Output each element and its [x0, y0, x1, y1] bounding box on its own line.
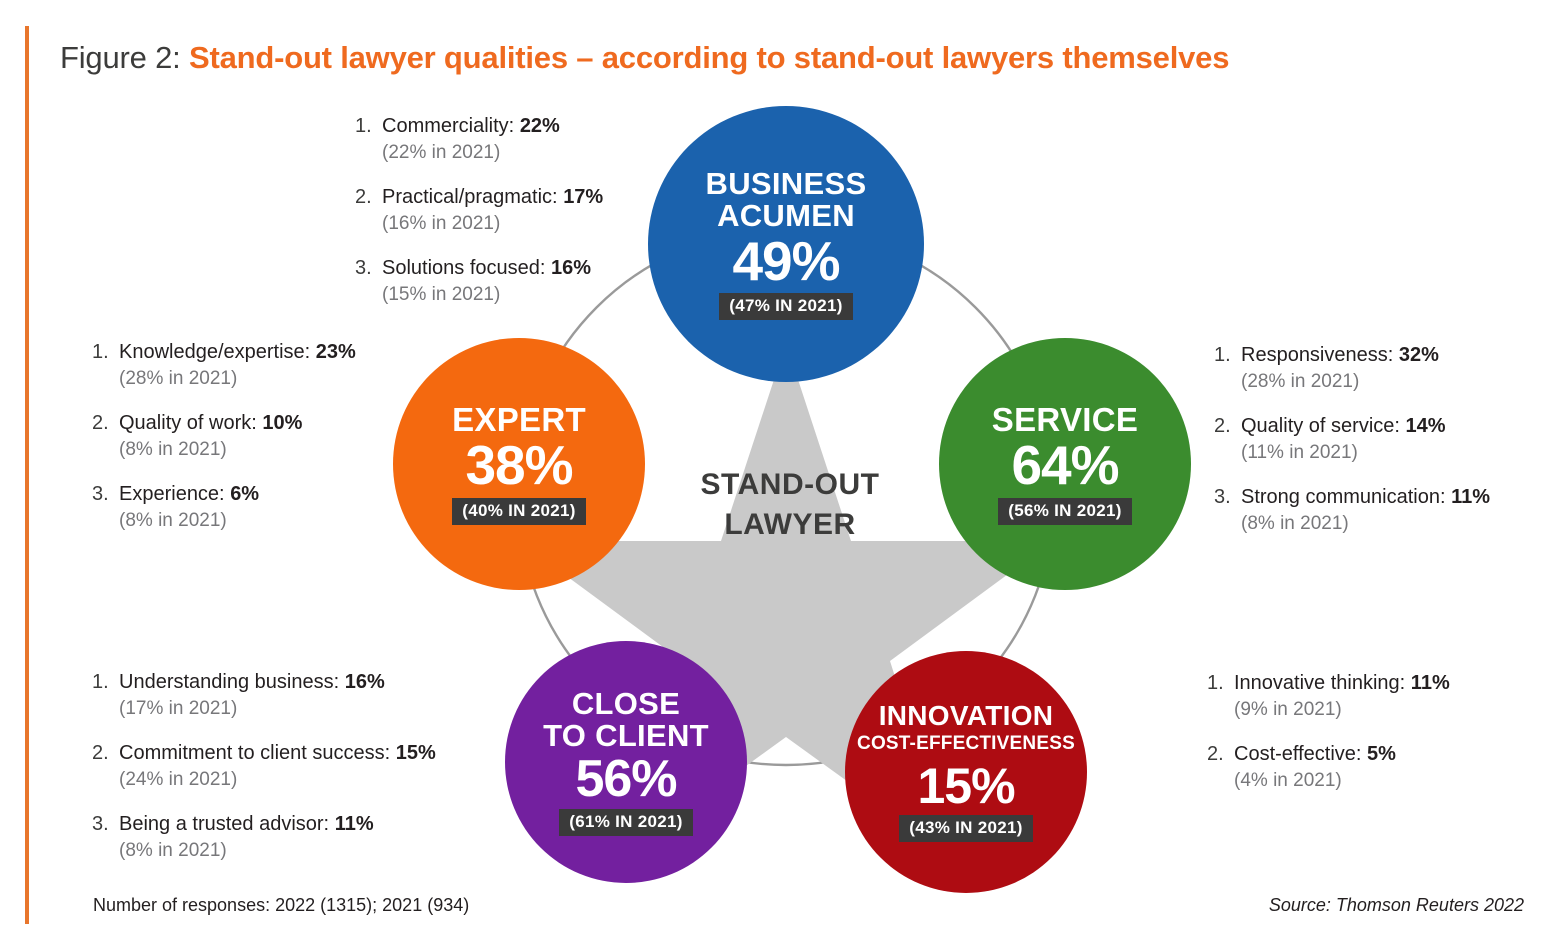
list-expert: 1. Knowledge/expertise: 23% (28% in 2021… — [92, 339, 356, 534]
list-item-number: 1. — [1214, 342, 1241, 395]
list-item-value: 16% — [551, 257, 591, 279]
center-label-line1: STAND-OUT — [620, 465, 960, 505]
list-close-to-client: 1. Understanding business: 16% (17% in 2… — [92, 669, 436, 864]
list-item-label: Innovative thinking: — [1234, 672, 1405, 694]
bubble-innovation-subtitle: COST-EFFECTIVENESS — [857, 733, 1075, 755]
list-item-number: 1. — [92, 339, 119, 392]
list-item-previous: (9% in 2021) — [1234, 697, 1450, 723]
list-item-previous: (17% in 2021) — [119, 696, 436, 722]
list-item-main: Practical/pragmatic: 17% — [382, 184, 603, 211]
list-item-main: Being a trusted advisor: 11% — [119, 811, 436, 838]
list-item: 3. Solutions focused: 16% (15% in 2021) — [355, 255, 603, 308]
list-item: 2. Cost-effective: 5% (4% in 2021) — [1207, 741, 1450, 794]
list-item-value: 16% — [345, 671, 385, 693]
list-item-main: Quality of service: 14% — [1241, 413, 1490, 440]
list-item-number: 2. — [1214, 413, 1241, 466]
list-item-previous: (11% in 2021) — [1241, 440, 1490, 466]
list-item-label: Experience: — [119, 483, 225, 505]
bubble-business-acumen-percent: 49% — [732, 234, 839, 289]
list-item-label: Strong communication: — [1241, 486, 1446, 508]
list-item-value: 22% — [520, 115, 560, 137]
list-item: 1. Understanding business: 16% (17% in 2… — [92, 669, 436, 722]
list-item-number: 2. — [92, 740, 119, 793]
list-item-label: Commerciality: — [382, 115, 514, 137]
list-item: 1. Innovative thinking: 11% (9% in 2021) — [1207, 670, 1450, 723]
list-item: 3. Strong communication: 11% (8% in 2021… — [1214, 484, 1490, 537]
list-item-main: Responsiveness: 32% — [1241, 342, 1490, 369]
list-item-label: Responsiveness: — [1241, 344, 1393, 366]
list-item-previous: (24% in 2021) — [119, 767, 436, 793]
list-item-label: Commitment to client success: — [119, 742, 390, 764]
bubble-business-acumen[interactable]: BUSINESS ACUMEN 49% (47% IN 2021) — [648, 106, 924, 382]
list-item-previous: (28% in 2021) — [1241, 369, 1490, 395]
list-item-value: 10% — [262, 412, 302, 434]
list-item-number: 3. — [355, 255, 382, 308]
figure-title-text: Stand-out lawyer qualities – according t… — [189, 40, 1229, 75]
footer-responses: Number of responses: 2022 (1315); 2021 (… — [93, 895, 469, 916]
list-item-label: Understanding business: — [119, 671, 339, 693]
bubble-innovation-previous: (43% IN 2021) — [899, 815, 1033, 842]
list-item-value: 14% — [1406, 415, 1446, 437]
list-item-main: Innovative thinking: 11% — [1234, 670, 1450, 697]
bubble-service[interactable]: SERVICE 64% (56% IN 2021) — [939, 338, 1191, 590]
list-item-value: 11% — [335, 813, 374, 835]
list-item-value: 11% — [1411, 672, 1450, 694]
list-item-main: Commitment to client success: 15% — [119, 740, 436, 767]
center-star-label: STAND-OUT LAWYER — [620, 465, 960, 545]
list-item: 3. Experience: 6% (8% in 2021) — [92, 481, 356, 534]
list-item-label: Knowledge/expertise: — [119, 341, 310, 363]
list-item: 1. Commerciality: 22% (22% in 2021) — [355, 113, 603, 166]
bubble-innovation-name: INNOVATION — [879, 702, 1054, 731]
bubble-innovation-percent: 15% — [917, 761, 1014, 811]
list-innovation: 1. Innovative thinking: 11% (9% in 2021)… — [1207, 670, 1450, 794]
list-item-number: 3. — [92, 481, 119, 534]
list-item-value: 32% — [1399, 344, 1439, 366]
list-item-main: Commerciality: 22% — [382, 113, 603, 140]
list-item-label: Quality of service: — [1241, 415, 1400, 437]
list-item: 2. Quality of service: 14% (11% in 2021) — [1214, 413, 1490, 466]
list-item-value: 23% — [316, 341, 356, 363]
list-item-value: 5% — [1367, 743, 1396, 765]
list-item: 2. Practical/pragmatic: 17% (16% in 2021… — [355, 184, 603, 237]
list-item-previous: (8% in 2021) — [119, 508, 356, 534]
list-item-number: 1. — [355, 113, 382, 166]
list-item-value: 15% — [396, 742, 436, 764]
list-item-main: Strong communication: 11% — [1241, 484, 1490, 511]
list-item-number: 2. — [92, 410, 119, 463]
bubble-expert-previous: (40% IN 2021) — [452, 498, 586, 525]
list-item: 3. Being a trusted advisor: 11% (8% in 2… — [92, 811, 436, 864]
list-item-previous: (15% in 2021) — [382, 282, 603, 308]
list-item-previous: (8% in 2021) — [119, 838, 436, 864]
list-item-number: 1. — [1207, 670, 1234, 723]
bubble-service-percent: 64% — [1011, 438, 1118, 493]
bubble-close-to-client[interactable]: CLOSE TO CLIENT 56% (61% IN 2021) — [505, 641, 747, 883]
list-item-value: 11% — [1451, 486, 1490, 508]
list-item-number: 1. — [92, 669, 119, 722]
bubble-business-acumen-name: BUSINESS ACUMEN — [706, 168, 867, 231]
list-item-value: 17% — [563, 186, 603, 208]
bubble-close-to-client-percent: 56% — [575, 753, 676, 805]
list-item-main: Solutions focused: 16% — [382, 255, 603, 282]
list-item-label: Solutions focused: — [382, 257, 545, 279]
bubble-business-acumen-previous: (47% IN 2021) — [719, 293, 853, 320]
center-label-line2: LAWYER — [620, 505, 960, 545]
list-item-number: 3. — [92, 811, 119, 864]
bubble-service-name: SERVICE — [992, 403, 1138, 437]
list-item: 2. Commitment to client success: 15% (24… — [92, 740, 436, 793]
list-item-main: Understanding business: 16% — [119, 669, 436, 696]
list-item-label: Practical/pragmatic: — [382, 186, 558, 208]
list-item: 1. Knowledge/expertise: 23% (28% in 2021… — [92, 339, 356, 392]
list-business-acumen: 1. Commerciality: 22% (22% in 2021) 2. P… — [355, 113, 603, 308]
list-item-previous: (16% in 2021) — [382, 211, 603, 237]
bubble-close-to-client-previous: (61% IN 2021) — [559, 809, 693, 836]
list-item-label: Being a trusted advisor: — [119, 813, 329, 835]
list-item-previous: (8% in 2021) — [119, 437, 356, 463]
footer-source: Source: Thomson Reuters 2022 — [1269, 895, 1524, 916]
bubble-expert[interactable]: EXPERT 38% (40% IN 2021) — [393, 338, 645, 590]
bubble-close-to-client-name: CLOSE TO CLIENT — [543, 688, 709, 751]
list-item-main: Experience: 6% — [119, 481, 356, 508]
list-item-number: 3. — [1214, 484, 1241, 537]
list-item-label: Quality of work: — [119, 412, 257, 434]
orange-accent-bar — [25, 26, 29, 924]
list-item: 1. Responsiveness: 32% (28% in 2021) — [1214, 342, 1490, 395]
list-item-main: Cost-effective: 5% — [1234, 741, 1450, 768]
list-service: 1. Responsiveness: 32% (28% in 2021) 2. … — [1214, 342, 1490, 537]
list-item-value: 6% — [230, 483, 259, 505]
figure-number: Figure 2: — [60, 40, 181, 75]
list-item-number: 2. — [355, 184, 382, 237]
bubble-service-previous: (56% IN 2021) — [998, 498, 1132, 525]
bubble-expert-name: EXPERT — [452, 403, 586, 437]
list-item-previous: (22% in 2021) — [382, 140, 603, 166]
list-item-main: Quality of work: 10% — [119, 410, 356, 437]
list-item-main: Knowledge/expertise: 23% — [119, 339, 356, 366]
page-title: Figure 2: Stand-out lawyer qualities – a… — [60, 36, 1229, 80]
bubble-expert-percent: 38% — [465, 438, 572, 493]
bubble-innovation[interactable]: INNOVATION COST-EFFECTIVENESS 15% (43% I… — [845, 651, 1087, 893]
list-item: 2. Quality of work: 10% (8% in 2021) — [92, 410, 356, 463]
list-item-number: 2. — [1207, 741, 1234, 794]
list-item-previous: (28% in 2021) — [119, 366, 356, 392]
list-item-label: Cost-effective: — [1234, 743, 1361, 765]
list-item-previous: (4% in 2021) — [1234, 768, 1450, 794]
list-item-previous: (8% in 2021) — [1241, 511, 1490, 537]
